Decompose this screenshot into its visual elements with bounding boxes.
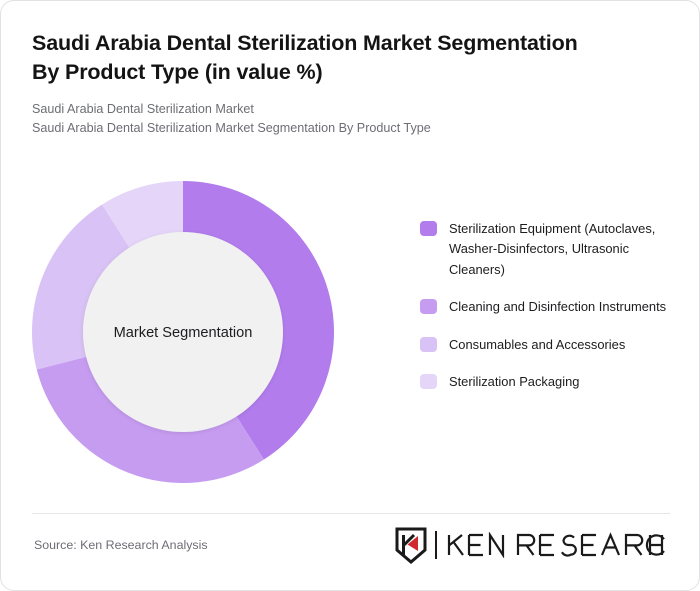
legend-item-0[interactable]: Sterilization Equipment (Autoclaves, Was… — [420, 219, 678, 280]
legend-swatch-icon-0 — [420, 221, 437, 236]
chart-card: Saudi Arabia Dental Sterilization Market… — [0, 0, 700, 591]
legend-swatch-icon-3 — [420, 374, 437, 389]
legend-item-2[interactable]: Consumables and Accessories — [420, 335, 678, 355]
chart-legend: Sterilization Equipment (Autoclaves, Was… — [420, 219, 678, 392]
legend-swatch-icon-1 — [420, 299, 437, 314]
chart-header: Saudi Arabia Dental Sterilization Market… — [32, 29, 592, 138]
subtitle-block: Saudi Arabia Dental Sterilization Market… — [32, 100, 592, 138]
subtitle-line-2: Saudi Arabia Dental Sterilization Market… — [32, 119, 592, 138]
brand-wordmark — [445, 532, 669, 558]
brand-logo — [394, 525, 669, 565]
legend-swatch-icon-2 — [420, 337, 437, 352]
chart-area: Market Segmentation Sterilization Equipm… — [1, 161, 700, 501]
legend-item-1[interactable]: Cleaning and Disinfection Instruments — [420, 297, 678, 317]
footer-divider — [32, 513, 670, 514]
ken-research-shield-icon — [394, 527, 428, 564]
legend-item-3[interactable]: Sterilization Packaging — [420, 372, 678, 392]
donut-center-label: Market Segmentation — [114, 325, 253, 341]
donut-chart: Market Segmentation — [32, 181, 334, 483]
brand-divider-bar — [435, 531, 437, 559]
legend-label-1: Cleaning and Disinfection Instruments — [449, 297, 666, 317]
legend-label-0: Sterilization Equipment (Autoclaves, Was… — [449, 219, 678, 280]
source-text: Source: Ken Research Analysis — [34, 538, 208, 552]
subtitle-line-1: Saudi Arabia Dental Sterilization Market — [32, 100, 592, 119]
donut-svg: Market Segmentation — [32, 181, 334, 483]
page-title: Saudi Arabia Dental Sterilization Market… — [32, 29, 592, 87]
legend-label-2: Consumables and Accessories — [449, 335, 625, 355]
legend-label-3: Sterilization Packaging — [449, 372, 579, 392]
